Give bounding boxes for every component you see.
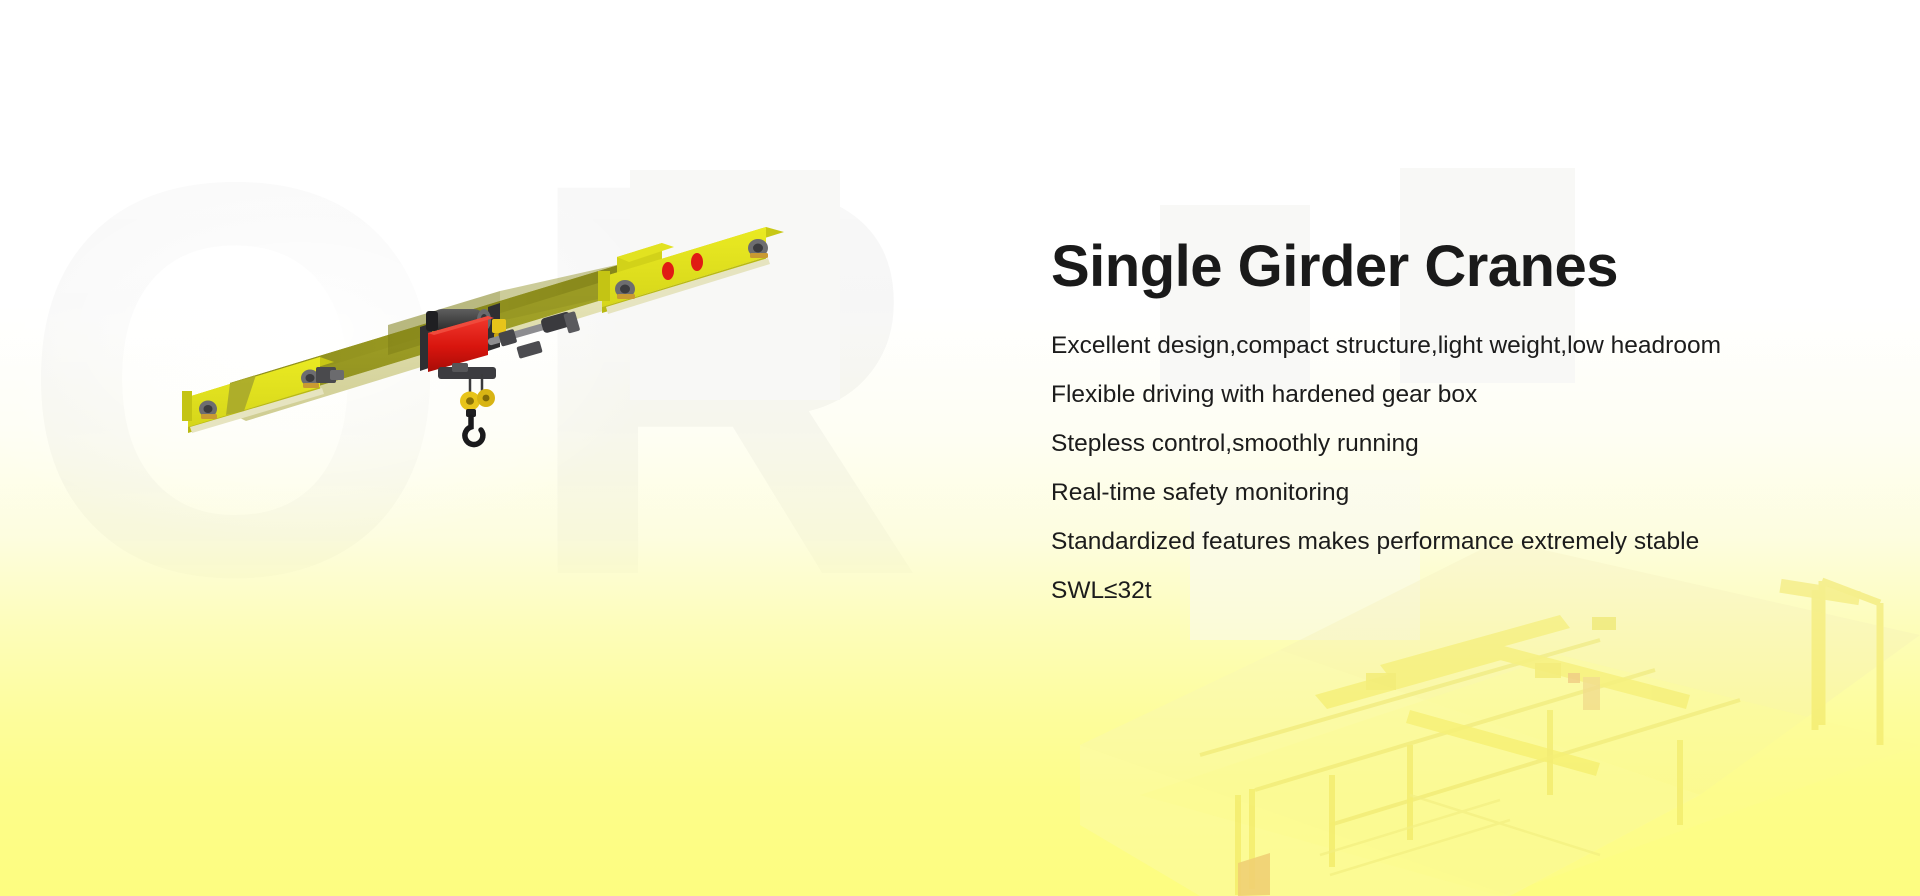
- feature-item-4: Real-time safety monitoring: [1051, 481, 1871, 506]
- feature-item-5: Standardized features makes performance …: [1051, 530, 1871, 555]
- feature-item-6: SWL≤32t: [1051, 579, 1871, 604]
- single-girder-crane-illustration: [170, 215, 830, 515]
- hero-content: Single Girder Cranes Excellent design,co…: [1051, 238, 1871, 604]
- feature-item-3: Stepless control,smoothly running: [1051, 432, 1871, 457]
- feature-item-2: Flexible driving with hardened gear box: [1051, 383, 1871, 408]
- feature-item-1: Excellent design,compact structure,light…: [1051, 334, 1871, 359]
- page-title: Single Girder Cranes: [1051, 238, 1871, 296]
